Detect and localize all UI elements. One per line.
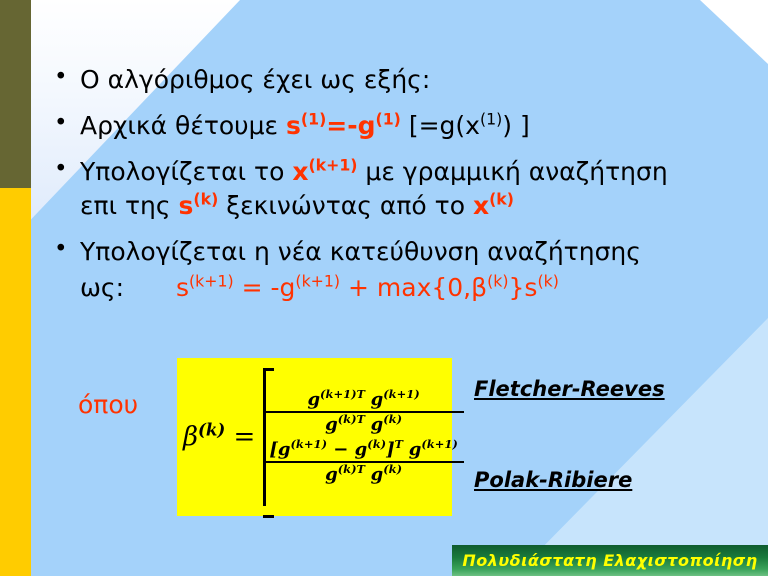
bullet-item-new-direction: Υπολογίζεται η νέα κατεύθυνση αναζήτησης… — [48, 236, 748, 304]
fr-num-sup2: (k+1) — [383, 387, 420, 401]
bullet-text-initialization-post-b: ) ] — [502, 111, 529, 140]
sup-x-k: (k) — [489, 190, 514, 209]
pr-open-bracket: [ — [269, 439, 278, 460]
formula-s-initial: s(1)=-g(1) — [286, 111, 401, 140]
label-polak-ribiere: Polak-Ribiere — [474, 468, 632, 492]
pr-minus: − — [327, 439, 355, 460]
footer-banner: Πολυδιάστατη Ελαχιστοποίηση — [452, 545, 768, 576]
bullet-item-algorithm-intro: Ο αλγόριθμος έχει ως εξής: — [48, 64, 748, 96]
pr-den-transpose: T — [357, 463, 365, 476]
fr-den-var1: g — [325, 414, 338, 435]
fr-num-sup1: (k+1) — [320, 387, 357, 401]
fraction-fletcher-reeves: g(k+1)T g(k+1) g(k)T g(k) — [263, 389, 464, 435]
pr-num-var3: g — [409, 439, 422, 460]
pr-num-sup3: (k+1) — [421, 437, 458, 451]
fr-num-var2: g — [371, 389, 384, 410]
pr-den-var2: g — [371, 464, 384, 485]
sup-x-initial: (1) — [480, 110, 502, 129]
formula-fractions: g(k+1)T g(k+1) g(k)T g(k) [g(k+1) − g(k)… — [263, 389, 464, 485]
bullet-text-line2-pre: επι της — [80, 191, 179, 220]
pr-numerator: [g(k+1) − g(k)]T g(k+1) — [263, 439, 464, 463]
opou-label: όπου — [78, 390, 138, 419]
eq-op-plus-max: + max{0,β — [340, 273, 487, 302]
bullet-item-initialization: Αρχικά θέτουμε s(1)=-g(1) [=g(x(1)) ] — [48, 110, 748, 142]
fr-num-var1: g — [307, 389, 320, 410]
pr-num-var1: g — [278, 439, 291, 460]
label-fletcher-reeves: Fletcher-Reeves — [474, 377, 665, 401]
new-direction-equation: s(k+1) = -g(k+1) + max{0,β(k)}s(k) — [176, 273, 559, 302]
left-rail-olive — [0, 0, 31, 188]
bullet-list: Ο αλγόριθμος έχει ως εξής: Αρχικά θέτουμ… — [48, 64, 748, 304]
beta-lhs: β(k) = — [183, 422, 259, 452]
fraction-polak-ribiere: [g(k+1) − g(k)]T g(k+1) g(k)T g(k) — [263, 439, 464, 485]
var-x-k: x — [473, 191, 489, 220]
var-s-k: s — [179, 191, 194, 220]
pr-close-bracket: ] — [386, 439, 395, 460]
var-s: s — [286, 111, 301, 140]
beta-symbol: β — [183, 422, 198, 452]
eq-sup-g: (k+1) — [295, 272, 340, 291]
fr-den-sup1: (k) — [338, 412, 357, 426]
bullet-text-initialization-pre: Αρχικά θέτουμε — [80, 111, 286, 140]
bullet-text-new-direction: Υπολογίζεται η νέα κατεύθυνση αναζήτησης — [80, 237, 641, 266]
pr-num-transpose: T — [395, 438, 403, 451]
formula-x-next: x(k+1) — [292, 157, 357, 186]
beta-equals: = — [225, 422, 255, 452]
fr-num-transpose: T — [357, 388, 365, 401]
eq-sup-s2: (k) — [537, 272, 558, 291]
sup-x-next: (k+1) — [308, 156, 357, 175]
left-rail-gold — [0, 188, 31, 576]
var-x-next: x — [292, 157, 308, 186]
eq-op-equals: = - — [234, 273, 280, 302]
slide-content: Ο αλγόριθμος έχει ως εξής: Αρχικά θέτουμ… — [48, 64, 748, 318]
bullet-text-initialization-post-a: [=g(x — [401, 111, 480, 140]
fr-numerator: g(k+1)T g(k+1) — [263, 389, 464, 413]
pr-num-sup2: (k) — [367, 437, 386, 451]
eq-sup-beta: (k) — [487, 272, 508, 291]
pr-den-var1: g — [325, 464, 338, 485]
new-direction-equation-row: ως:s(k+1) = -g(k+1) + max{0,β(k)}s(k) — [80, 272, 748, 304]
fr-den-var2: g — [371, 414, 384, 435]
op-equals-minus: =- — [326, 111, 357, 140]
formula-x-k: x(k) — [473, 191, 514, 220]
var-g: g — [358, 111, 376, 140]
footer-banner-text: Πολυδιάστατη Ελαχιστοποίηση — [462, 551, 757, 570]
bullet-text-line2-mid: ξεκινώντας από το — [218, 191, 473, 220]
bullet-text-line-search-pre: Υπολογίζεται το — [80, 157, 292, 186]
sup-s-initial: (1) — [301, 110, 326, 129]
pr-den-sup2: (k) — [383, 462, 402, 476]
formula-s-k: s(k) — [179, 191, 219, 220]
fr-denominator: g(k)T g(k) — [263, 413, 464, 435]
bullet-item-line-search: Υπολογίζεται το x(k+1) με γραμμική αναζή… — [48, 156, 748, 222]
pr-denominator: g(k)T g(k) — [263, 463, 464, 485]
sup-s-k: (k) — [193, 190, 218, 209]
bullet-line-search-line2: επι της s(k) ξεκινώντας από το x(k) — [80, 190, 748, 222]
eq-close-s: }s — [509, 273, 538, 302]
slide-canvas: Ο αλγόριθμος έχει ως εξής: Αρχικά θέτουμ… — [0, 0, 768, 576]
pr-num-sup1: (k+1) — [290, 437, 327, 451]
eq-var-g: g — [280, 273, 296, 302]
bullet-text-algorithm-intro: Ο αλγόριθμος έχει ως εξής: — [80, 65, 430, 94]
fr-den-transpose: T — [357, 413, 365, 426]
equation-label-os: ως: — [80, 272, 176, 304]
eq-sup-s: (k+1) — [189, 272, 234, 291]
eq-var-s: s — [176, 273, 189, 302]
bullet-text-line-search-post: με γραμμική αναζήτηση — [357, 157, 667, 186]
beta-superscript: (k) — [198, 419, 225, 439]
pr-num-var2: g — [355, 439, 368, 460]
beta-formula-box: β(k) = g(k+1)T g(k+1) g(k)T g(k) [g(k+1)… — [177, 358, 452, 516]
sup-g-initial: (1) — [376, 110, 401, 129]
fr-den-sup2: (k) — [383, 412, 402, 426]
pr-den-sup1: (k) — [338, 462, 357, 476]
